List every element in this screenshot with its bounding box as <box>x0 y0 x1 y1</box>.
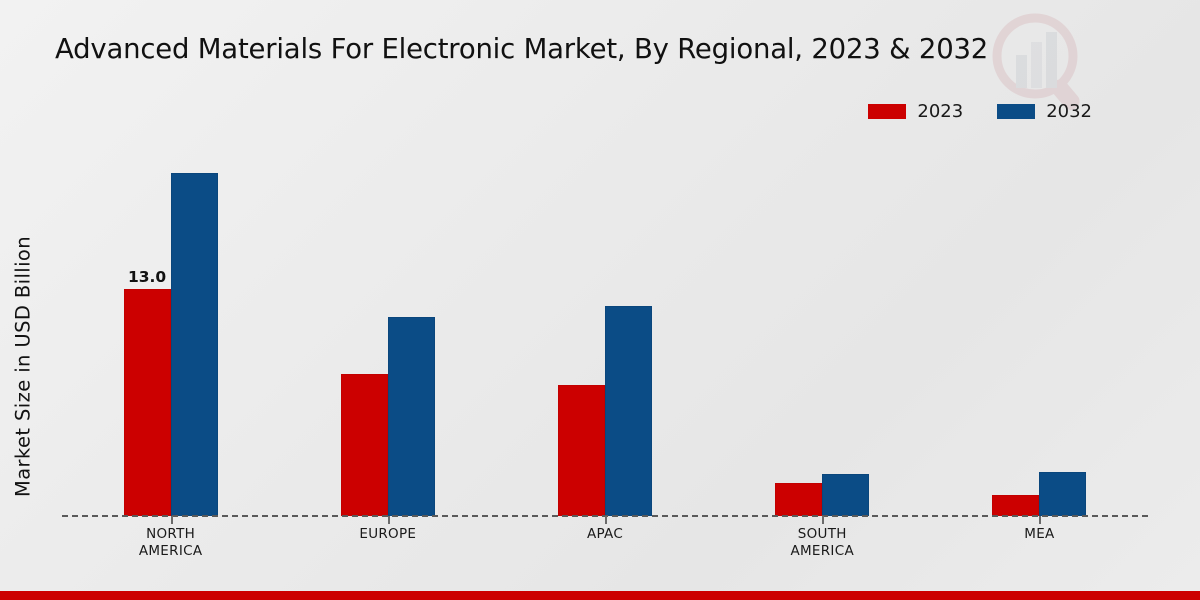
bar-groups: 13.0 <box>62 140 1148 516</box>
chart-legend: 2023 2032 <box>868 101 1092 122</box>
legend-item-2032[interactable]: 2032 <box>997 101 1092 122</box>
bar-2032-europe[interactable] <box>388 317 435 516</box>
tick-north-america <box>62 516 279 524</box>
legend-item-2023[interactable]: 2023 <box>868 101 963 122</box>
category-label-line: AMERICA <box>62 543 279 560</box>
footer-accent-strip <box>0 591 1200 600</box>
category-label-south-america: SOUTH AMERICA <box>714 526 931 560</box>
tick-apac <box>496 516 713 524</box>
tick-mea <box>931 516 1148 524</box>
chart-canvas: Advanced Materials For Electronic Market… <box>0 0 1200 600</box>
category-label-north-america: NORTH AMERICA <box>62 526 279 560</box>
category-label-line: NORTH <box>62 526 279 543</box>
bar-2023-south-america[interactable] <box>775 483 822 516</box>
bar-group-mea <box>931 140 1148 516</box>
category-label-line: APAC <box>496 526 713 543</box>
bar-2032-north-america[interactable] <box>171 173 218 516</box>
bar-group-south-america <box>714 140 931 516</box>
category-label-line: MEA <box>931 526 1148 543</box>
bar-2023-mea[interactable] <box>992 495 1039 516</box>
x-axis-category-labels: NORTH AMERICA EUROPE APAC SOUTH AMERICA … <box>62 526 1148 560</box>
bar-group-apac <box>496 140 713 516</box>
tick-south-america <box>714 516 931 524</box>
bar-value-label: 13.0 <box>128 268 166 286</box>
category-label-line: SOUTH <box>714 526 931 543</box>
bar-group-north-america: 13.0 <box>62 140 279 516</box>
category-label-line: AMERICA <box>714 543 931 560</box>
bar-2032-mea[interactable] <box>1039 472 1086 516</box>
bar-2023-apac[interactable] <box>558 385 605 516</box>
legend-swatch-2032 <box>997 104 1035 119</box>
category-label-mea: MEA <box>931 526 1148 560</box>
x-axis-ticks <box>62 516 1148 524</box>
legend-label-2023: 2023 <box>917 101 963 122</box>
category-label-europe: EUROPE <box>279 526 496 560</box>
bar-2032-apac[interactable] <box>605 306 652 516</box>
bar-2032-south-america[interactable] <box>822 474 869 516</box>
bar-2023-north-america[interactable]: 13.0 <box>124 289 171 516</box>
bar-2023-europe[interactable] <box>341 374 388 516</box>
tick-europe <box>279 516 496 524</box>
legend-swatch-2023 <box>868 104 906 119</box>
category-label-apac: APAC <box>496 526 713 560</box>
chart-title: Advanced Materials For Electronic Market… <box>55 33 988 65</box>
legend-label-2032: 2032 <box>1046 101 1092 122</box>
bar-group-europe <box>279 140 496 516</box>
category-label-line: EUROPE <box>279 526 496 543</box>
y-axis-title: Market Size in USD Billion <box>12 202 35 532</box>
